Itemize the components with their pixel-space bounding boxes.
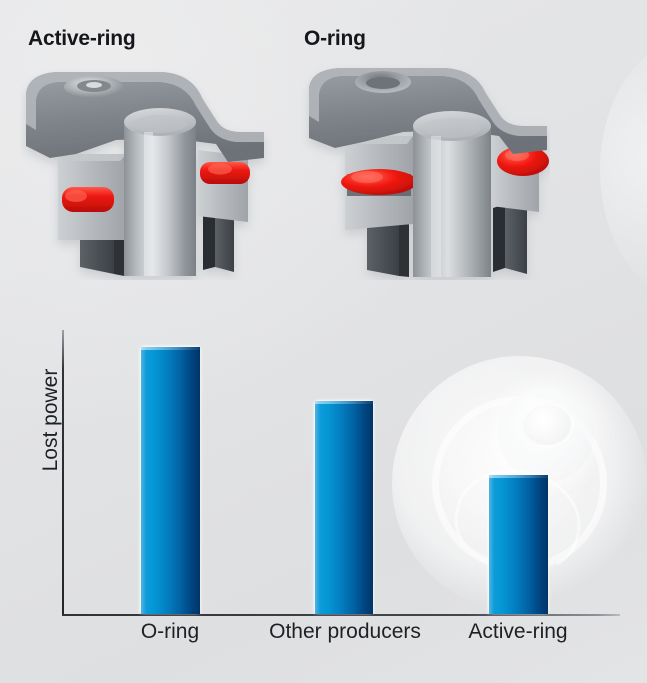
panel-title-active-ring: Active-ring: [28, 27, 136, 51]
bar-other-producers[interactable]: [315, 401, 373, 614]
watermark-glow-top-right: [600, 40, 647, 300]
bar-active-ring[interactable]: [489, 475, 548, 614]
bar-o-ring[interactable]: [141, 347, 200, 614]
figure-canvas: Active-ring O-ring: [0, 0, 647, 683]
bar-chart: Lost power O-ring Other producers Active…: [0, 300, 647, 683]
panel-title-o-ring: O-ring: [304, 27, 366, 51]
diagram-active-ring-cross-section: [20, 62, 275, 280]
chart-y-axis-label: Lost power: [39, 355, 63, 485]
chart-plot-area: [62, 330, 620, 614]
chart-x-label-other-producers: Other producers: [269, 620, 421, 644]
diagram-o-ring-cross-section: [295, 62, 550, 280]
chart-x-label-o-ring: O-ring: [141, 620, 199, 644]
chart-x-axis: [62, 614, 620, 616]
chart-x-label-active-ring: Active-ring: [468, 620, 567, 644]
